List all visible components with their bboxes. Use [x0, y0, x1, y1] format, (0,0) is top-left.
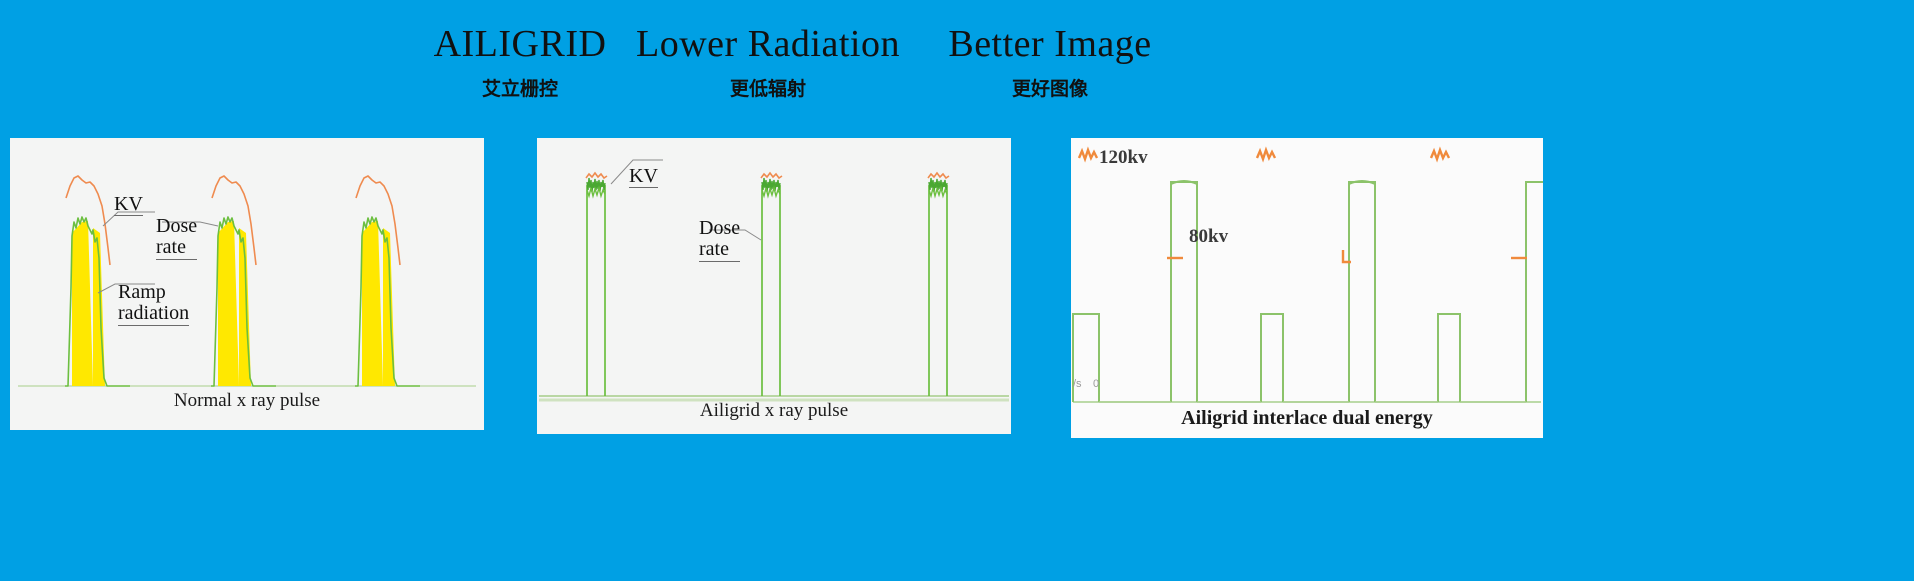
header-title-cn-1: 更低辐射 [618, 76, 918, 102]
axis-zero-label: 0 [1093, 378, 1099, 390]
slide-root: AILIGRID 艾立栅控 Lower Radiation 更低辐射 Bette… [0, 0, 1914, 581]
dose-rate-annotation-panel-1: Dose rate [699, 196, 740, 262]
panel-caption-ailigrid-x-ray-pulse: Ailigrid x ray pulse [537, 400, 1011, 422]
kv-annotation-text-0: KV [114, 194, 143, 217]
chart-normal-x-ray-pulse [10, 138, 484, 430]
kv-annotation-panel-0: KV [114, 172, 143, 216]
legend-label-120kv: 120kv [1099, 147, 1148, 169]
axis-unit-label: /s [1073, 378, 1082, 390]
ramp-radiation-annotation-text-0: Ramp radiation [118, 282, 189, 326]
header-title-en-2: Better Image [900, 22, 1200, 66]
dose-rate-annotation-text-0: Dose rate [156, 216, 197, 260]
header-group-lower-radiation: Lower Radiation 更低辐射 [618, 22, 918, 102]
panel-caption-ailigrid-interlace-dual-energy: Ailigrid interlace dual energy [1071, 407, 1543, 430]
panel-caption-normal-x-ray-pulse: Normal x ray pulse [10, 390, 484, 412]
header-title-cn-2: 更好图像 [900, 76, 1200, 102]
kv-annotation-panel-1: KV [629, 144, 658, 188]
dose-rate-annotation-text-1: Dose rate [699, 218, 740, 262]
chart-ailigrid-interlace-dual-energy [1071, 138, 1543, 438]
header-group-better-image: Better Image 更好图像 [900, 22, 1200, 102]
header-group-ailigrid: AILIGRID 艾立栅控 [400, 22, 640, 102]
header-title-cn-0: 艾立栅控 [400, 76, 640, 102]
panel-ailigrid-interlace-dual-energy: 120kv 80kv /s 0 Ailigrid interlace dual … [1071, 138, 1543, 438]
dose-rate-annotation-panel-0: Dose rate [156, 194, 197, 260]
header: AILIGRID 艾立栅控 Lower Radiation 更低辐射 Bette… [0, 22, 1914, 122]
panel-ailigrid-x-ray-pulse: KV Dose rate Ailigrid x ray pulse [537, 138, 1011, 434]
kv-annotation-text-1: KV [629, 166, 658, 189]
chart-ailigrid-x-ray-pulse [537, 138, 1011, 434]
panel-normal-x-ray-pulse: KV Dose rate Ramp radiation Normal x ray… [10, 138, 484, 430]
header-title-en-0: AILIGRID [400, 22, 640, 66]
header-title-en-1: Lower Radiation [618, 22, 918, 66]
ramp-radiation-annotation-panel-0: Ramp radiation [118, 260, 189, 326]
legend-label-80kv: 80kv [1189, 226, 1228, 248]
